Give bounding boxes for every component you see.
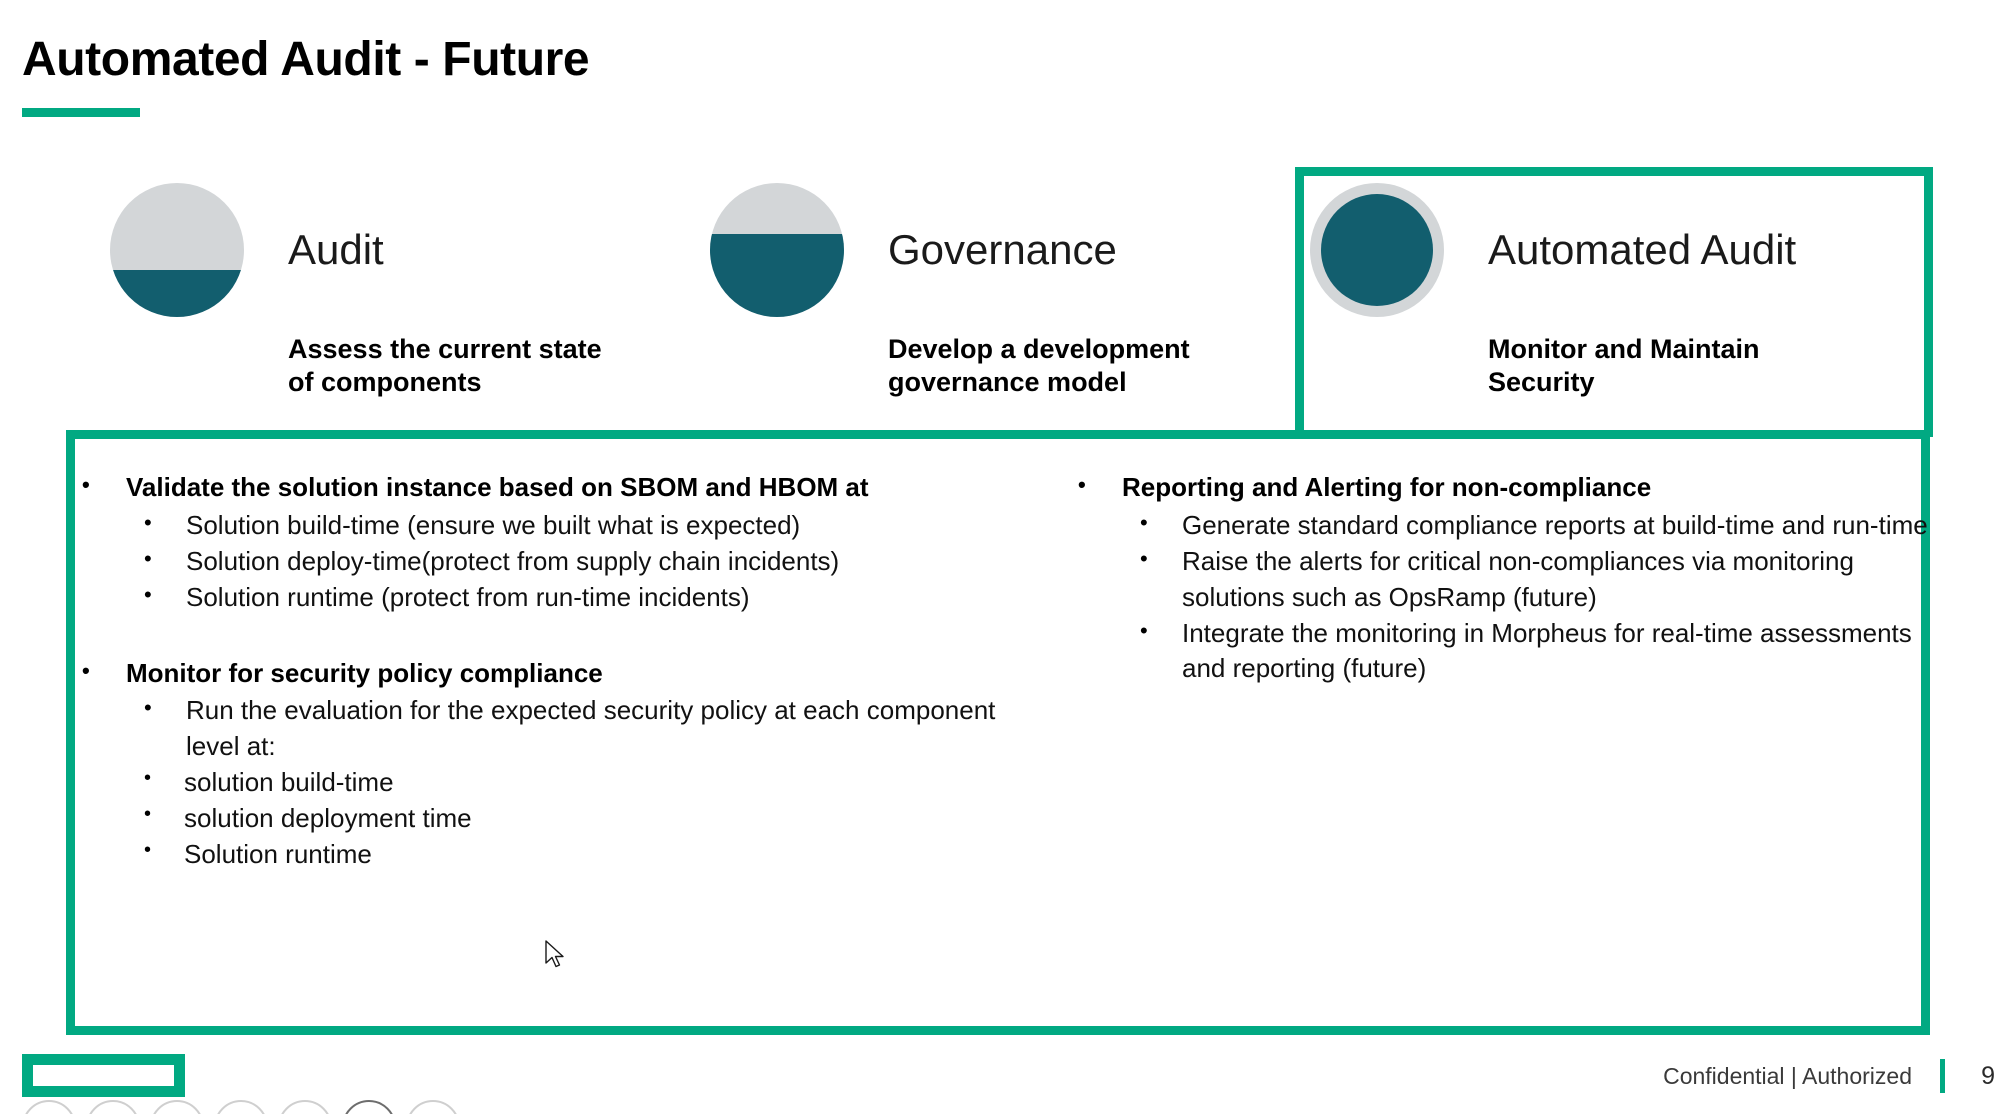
taskbar[interactable]	[0, 1100, 2013, 1114]
phase-governance: Governance Develop a development governa…	[710, 183, 1190, 399]
bullet-sublist-left-1: • Solution build-time (ensure we built w…	[144, 508, 1012, 616]
list-item: • Validate the solution instance based o…	[82, 470, 1012, 506]
footer-right: Confidential | Authorized 9	[1663, 1060, 1995, 1092]
bullet-dot-icon: •	[144, 580, 186, 610]
list-item: • Generate standard compliance reports a…	[1140, 508, 1958, 544]
list-item: • Raise the alerts for critical non-comp…	[1140, 544, 1958, 616]
bullet-dot-icon: •	[82, 656, 126, 686]
bullet-dot-icon: •	[1140, 616, 1182, 646]
phase-governance-name: Governance	[888, 226, 1117, 274]
taskbar-icon-3[interactable]	[150, 1100, 204, 1114]
list-item: • Solution build-time (ensure we built w…	[144, 508, 1012, 544]
list-item: • Integrate the monitoring in Morpheus f…	[1140, 616, 1958, 688]
phase-governance-description: Develop a development governance model	[888, 333, 1190, 399]
list-item-label: Solution runtime	[184, 837, 1012, 873]
list-item: • solution deployment time	[144, 801, 1012, 837]
taskbar-icon-5[interactable]	[278, 1100, 332, 1114]
list-item-label: solution build-time	[184, 765, 1012, 801]
page-title: Automated Audit - Future	[22, 32, 589, 87]
page-number: 9	[1973, 1062, 1995, 1091]
bullet-list-left-2: • Monitor for security policy compliance	[82, 656, 1012, 692]
bullet-dot-icon: •	[1140, 508, 1182, 538]
list-item: • solution build-time	[144, 765, 1012, 801]
gauge-fill-icon-governance	[710, 183, 844, 317]
list-item: • Monitor for security policy compliance	[82, 656, 1012, 692]
slide-canvas: Automated Audit - Future Audit Assess th…	[0, 0, 2013, 1114]
taskbar-icon-6[interactable]	[342, 1100, 396, 1114]
phase-automated-audit-name: Automated Audit	[1488, 226, 1796, 274]
bullet-dot-icon: •	[144, 693, 186, 723]
list-item: • Solution deploy-time(protect from supp…	[144, 544, 1012, 580]
bullet-column-right: • Reporting and Alerting for non-complia…	[1078, 470, 1958, 687]
list-item-label: solution deployment time	[184, 801, 1012, 837]
list-item-label: Solution build-time (ensure we built wha…	[186, 508, 1012, 544]
bullet-dot-icon: •	[144, 837, 184, 865]
bullet-dot-icon: •	[144, 544, 186, 574]
bullet-sublist-right: • Generate standard compliance reports a…	[1140, 508, 1958, 687]
list-item-label: Monitor for security policy compliance	[126, 656, 1012, 692]
bullet-dot-icon: •	[144, 801, 184, 829]
phase-automated-audit: Automated Audit Monitor and Maintain Sec…	[1310, 183, 1796, 399]
phase-audit-name: Audit	[288, 226, 384, 274]
hpe-logo	[22, 1054, 185, 1097]
list-item-label: Validate the solution instance based on …	[126, 470, 1012, 506]
list-item-label: Run the evaluation for the expected secu…	[186, 693, 1012, 765]
bullet-dot-icon: •	[144, 765, 184, 793]
taskbar-icon-2[interactable]	[86, 1100, 140, 1114]
list-item-label: Solution deploy-time(protect from supply…	[186, 544, 1012, 580]
list-item-label: Integrate the monitoring in Morpheus for…	[1182, 616, 1958, 688]
phase-governance-header: Governance	[710, 183, 1190, 317]
bullet-list-left: • Validate the solution instance based o…	[82, 470, 1012, 506]
footer-divider	[1940, 1059, 1945, 1093]
phase-automated-audit-description: Monitor and Maintain Security	[1488, 333, 1796, 399]
taskbar-icon-1[interactable]	[22, 1100, 76, 1114]
bullet-list-right: • Reporting and Alerting for non-complia…	[1078, 470, 1958, 506]
bullet-sublist-left-2: • Run the evaluation for the expected se…	[144, 693, 1012, 765]
list-item: • Run the evaluation for the expected se…	[144, 693, 1012, 765]
bullet-dot-icon: •	[82, 470, 126, 500]
confidentiality-label: Confidential | Authorized	[1663, 1063, 1912, 1090]
phase-audit-header: Audit	[110, 183, 602, 317]
phase-audit-description: Assess the current state of components	[288, 333, 602, 399]
list-item-label: Generate standard compliance reports at …	[1182, 508, 1958, 544]
title-underline-rule	[22, 108, 140, 117]
taskbar-icon-4[interactable]	[214, 1100, 268, 1114]
bullet-column-left: • Validate the solution instance based o…	[82, 470, 1012, 873]
bullet-dot-icon: •	[144, 508, 186, 538]
phase-audit: Audit Assess the current state of compon…	[110, 183, 602, 399]
list-item: • Solution runtime	[144, 837, 1012, 873]
list-item-label: Raise the alerts for critical non-compli…	[1182, 544, 1958, 616]
list-item-label: Reporting and Alerting for non-complianc…	[1122, 470, 1958, 506]
list-item: • Solution runtime (protect from run-tim…	[144, 580, 1012, 616]
taskbar-icon-7[interactable]	[406, 1100, 460, 1114]
list-item: • Reporting and Alerting for non-complia…	[1078, 470, 1958, 506]
gauge-fill-icon-automated-audit	[1310, 183, 1444, 317]
bullet-dot-icon: •	[1140, 544, 1182, 574]
list-group-spacer	[82, 616, 1012, 656]
phase-automated-audit-header: Automated Audit	[1310, 183, 1796, 317]
bullet-dot-icon: •	[1078, 470, 1122, 500]
list-item-label: Solution runtime (protect from run-time …	[186, 580, 1012, 616]
bullet-subsublist-left-2: • solution build-time • solution deploym…	[144, 765, 1012, 873]
gauge-fill-icon-audit	[110, 183, 244, 317]
